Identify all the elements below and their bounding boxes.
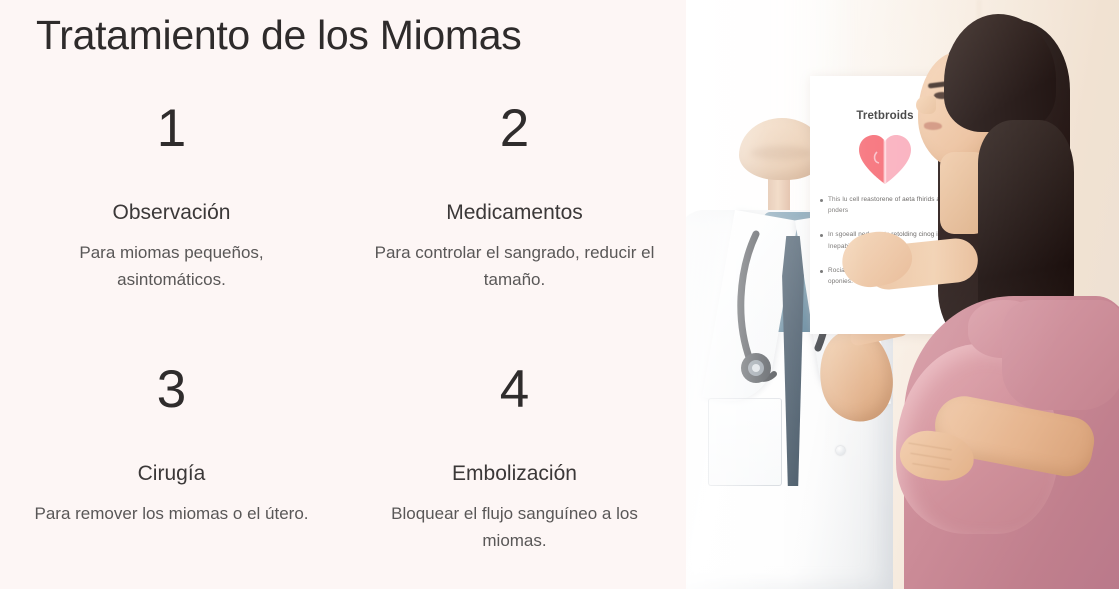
step-number: 4 [369,363,660,416]
treatment-step-4: 4 Embolización Bloquear el flujo sanguín… [343,347,686,589]
content-panel: Tratamiento de los Miomas 1 Observación … [0,0,686,589]
step-heading: Cirugía [26,461,317,486]
step-number: 2 [369,102,660,155]
treatment-steps-grid: 1 Observación Para miomas pequeños, asin… [0,92,686,589]
treatment-step-3: 3 Cirugía Para remover los miomas o el ú… [0,347,343,589]
treatment-step-1: 1 Observación Para miomas pequeños, asin… [0,92,343,347]
doctor-head-shadow [750,146,812,160]
step-description: Bloquear el flujo sanguíneo a los miomas… [369,501,660,554]
step-number: 1 [26,102,317,155]
patient-sleeve [1002,300,1119,410]
patient-lips [924,122,942,130]
photo-panel: Tretbroids This lu cell reastorene of ae… [686,0,1119,589]
patient-nose [916,96,936,114]
bullet-dot-icon [820,234,823,237]
step-description: Para remover los miomas o el útero. [26,501,317,527]
infographic-page: Tratamiento de los Miomas 1 Observación … [0,0,1119,589]
patient-figure [882,0,1119,589]
coat-button [836,446,845,455]
step-description: Para controlar el sangrado, reducir el t… [369,240,660,293]
treatment-step-2: 2 Medicamentos Para controlar el sangrad… [343,92,686,347]
step-heading: Observación [26,200,317,225]
clinic-photo: Tretbroids This lu cell reastorene of ae… [686,0,1119,589]
page-title: Tratamiento de los Miomas [36,12,521,59]
step-heading: Embolización [369,461,660,486]
bullet-dot-icon [820,270,823,273]
step-heading: Medicamentos [369,200,660,225]
step-description: Para miomas pequeños, asintomáticos. [26,240,317,293]
step-number: 3 [26,363,317,416]
bullet-dot-icon [820,199,823,202]
